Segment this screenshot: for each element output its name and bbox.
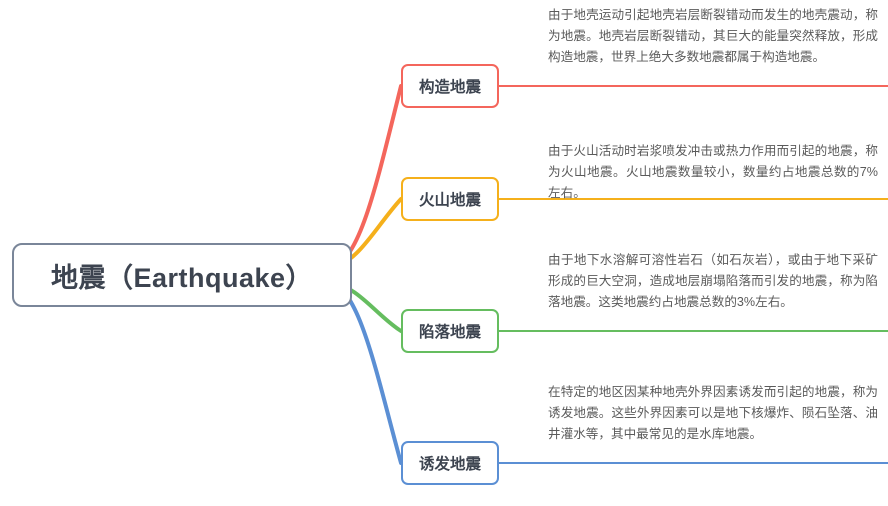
branch-node-collapse-label: 陷落地震	[419, 320, 481, 342]
root-node-label: 地震（Earthquake）	[51, 256, 313, 295]
description-text-volcanic: 由于火山活动时岩浆喷发冲击或热力作用而引起的地震，称为火山地震。火山地震数量较小…	[548, 141, 878, 204]
root-node[interactable]: 地震（Earthquake）	[12, 243, 352, 307]
branch-node-induced-label: 诱发地震	[419, 452, 481, 474]
description-text-induced: 在特定的地区因某种地壳外界因素诱发而引起的地震，称为诱发地震。这些外界因素可以是…	[548, 382, 878, 445]
description-block-tectonic: 由于地壳运动引起地壳岩层断裂错动而发生的地壳震动，称为地震。地壳岩层断裂错动，其…	[548, 5, 878, 68]
branch-node-tectonic[interactable]: 构造地震	[401, 64, 499, 108]
mind-map-canvas: 地震（Earthquake） 构造地震 火山地震 陷落地震 诱发地震 由于地壳运…	[0, 0, 888, 506]
description-text-collapse: 由于地下水溶解可溶性岩石（如石灰岩），或由于地下采矿形成的巨大空洞，造成地层崩塌…	[548, 250, 878, 313]
branch-node-volcanic[interactable]: 火山地震	[401, 177, 499, 221]
curve-branch-induced	[330, 282, 401, 463]
branch-node-induced[interactable]: 诱发地震	[401, 441, 499, 485]
description-block-volcanic: 由于火山活动时岩浆喷发冲击或热力作用而引起的地震，称为火山地震。火山地震数量较小…	[548, 141, 878, 204]
description-text-tectonic: 由于地壳运动引起地壳岩层断裂错动而发生的地壳震动，称为地震。地壳岩层断裂错动，其…	[548, 5, 878, 68]
description-block-collapse: 由于地下水溶解可溶性岩石（如石灰岩），或由于地下采矿形成的巨大空洞，造成地层崩塌…	[548, 250, 878, 313]
description-block-induced: 在特定的地区因某种地壳外界因素诱发而引起的地震，称为诱发地震。这些外界因素可以是…	[548, 382, 878, 445]
branch-node-volcanic-label: 火山地震	[419, 188, 481, 210]
branch-node-tectonic-label: 构造地震	[419, 75, 481, 97]
branch-node-collapse[interactable]: 陷落地震	[401, 309, 499, 353]
